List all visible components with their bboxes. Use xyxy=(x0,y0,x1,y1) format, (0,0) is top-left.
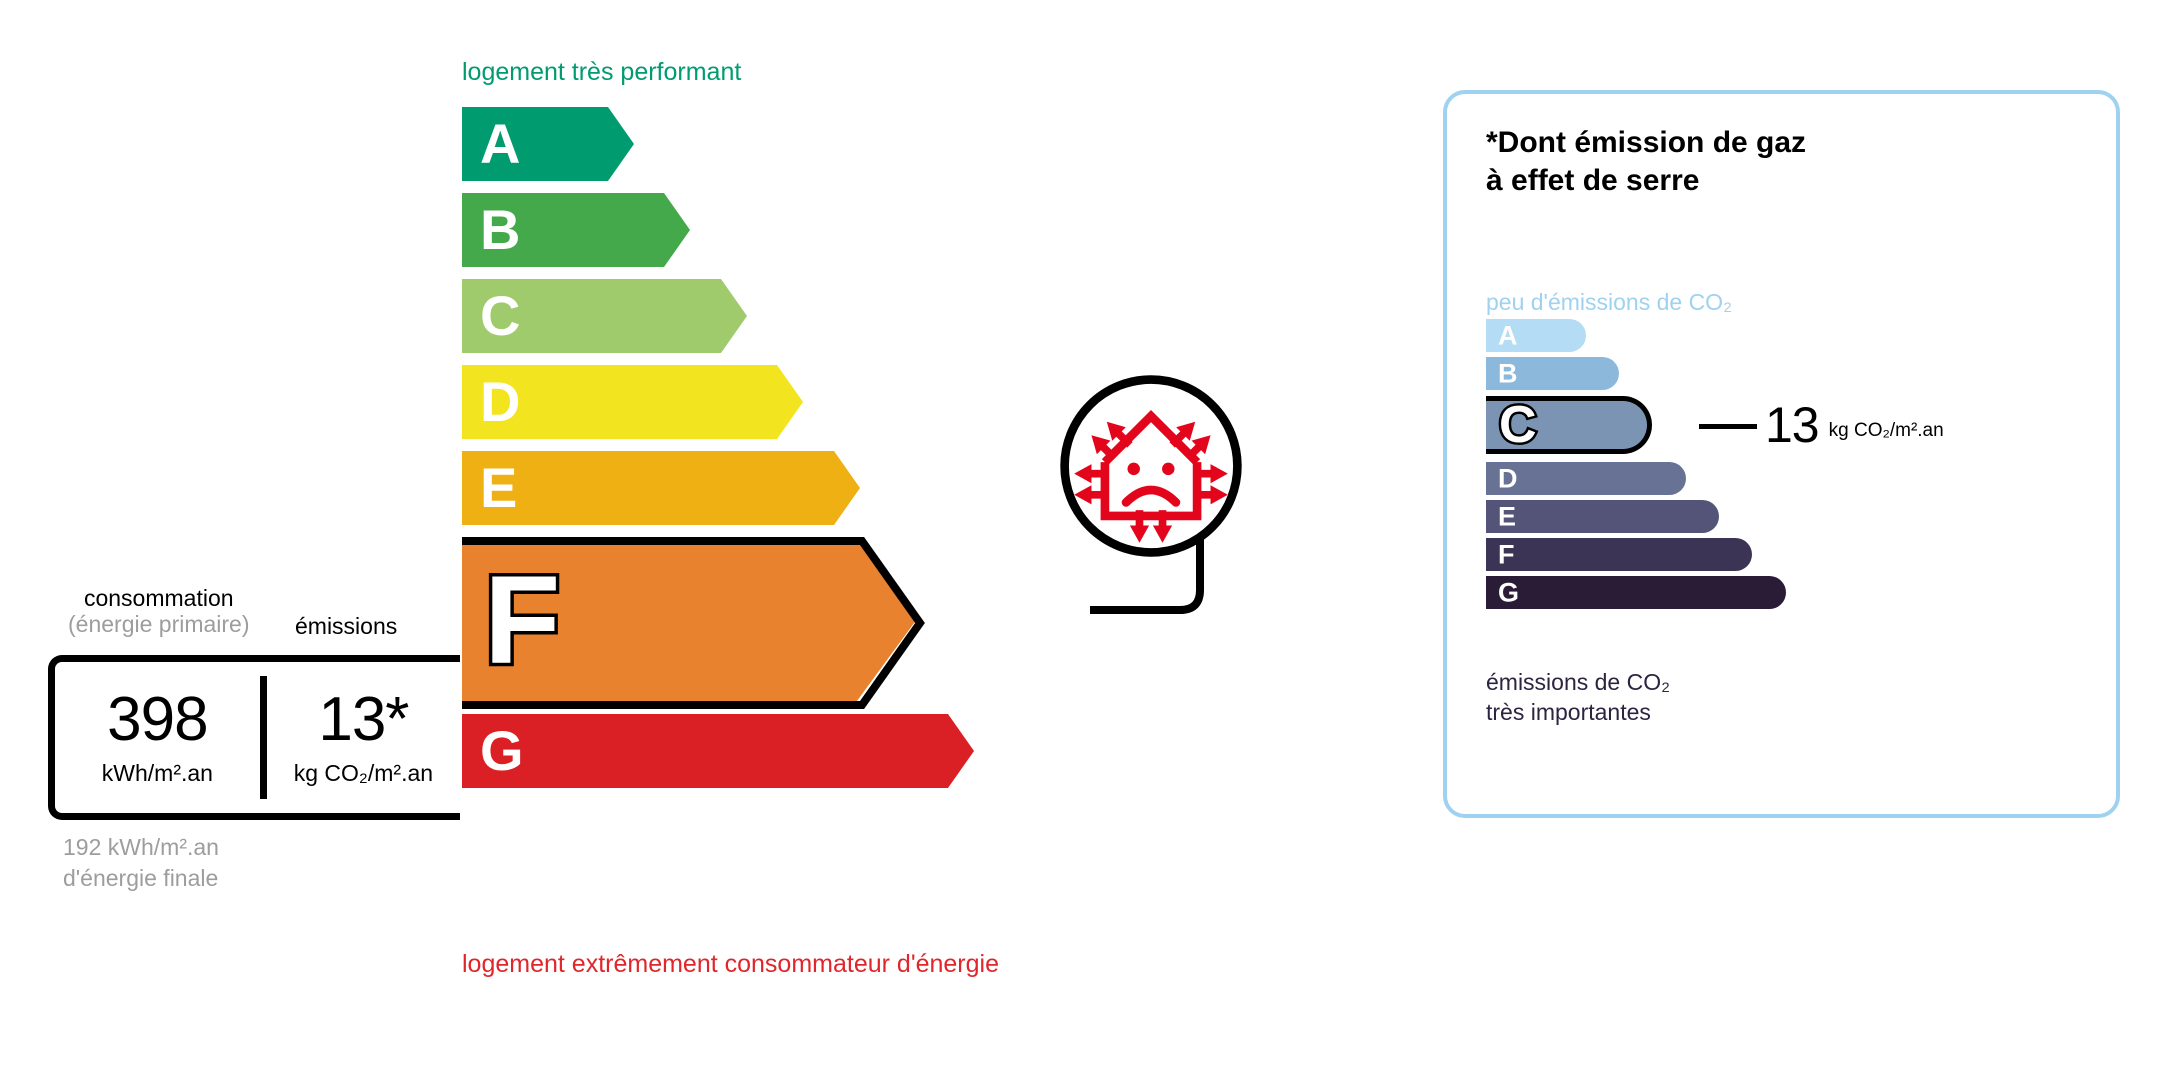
co2-readout: 13 kg CO₂/m².an xyxy=(1765,396,1944,454)
co2-bar-e xyxy=(1486,500,1719,533)
consumption-header-label: consommation xyxy=(84,585,234,611)
co2-leader-line xyxy=(1699,424,1757,429)
energy-class-row-g[interactable]: G xyxy=(462,714,1262,788)
energy-arrow-g xyxy=(462,714,974,788)
co2-class-row-a[interactable]: A xyxy=(1486,319,2086,352)
final-energy-label: d'énergie finale xyxy=(63,863,219,894)
co2-panel-title: *Dont émission de gaz à effet de serre xyxy=(1486,124,1806,200)
co2-class-letter-b: B xyxy=(1498,360,1518,387)
energy-class-letter-d: D xyxy=(480,374,520,430)
co2-class-row-e[interactable]: E xyxy=(1486,500,2086,533)
co2-class-row-f[interactable]: F xyxy=(1486,538,2086,571)
co2-top-caption: peu d'émissions de CO₂ xyxy=(1486,289,1732,316)
emissions-unit: kg CO₂/m².an xyxy=(294,760,433,787)
consumption-header: consommation (énergie primaire) xyxy=(68,586,250,638)
consumption-header-sublabel: (énergie primaire) xyxy=(68,612,250,638)
energy-class-letter-g: G xyxy=(480,723,524,779)
co2-bottom-caption-line1: émissions de CO₂ xyxy=(1486,667,1670,697)
co2-class-letter-d: D xyxy=(1498,465,1518,492)
final-energy-value: 192 kWh/m².an xyxy=(63,832,219,863)
energy-class-letter-b: B xyxy=(480,202,520,258)
energy-class-letter-c: C xyxy=(480,288,520,344)
final-energy-note: 192 kWh/m².an d'énergie finale xyxy=(63,832,219,894)
co2-class-list: A B C 13 kg CO₂/m².an D xyxy=(1486,319,2086,614)
co2-bottom-caption: émissions de CO₂ très importantes xyxy=(1486,667,1670,728)
energy-performance-panel: logement très performant A B xyxy=(0,0,1300,1079)
co2-title-line1: *Dont émission de gaz xyxy=(1486,124,1806,162)
co2-class-letter-e: E xyxy=(1498,503,1516,530)
consumption-value: 398 xyxy=(107,689,207,751)
value-readout-box: 398 kWh/m².an 13* kg CO₂/m².an xyxy=(48,655,460,820)
co2-bottom-caption-line2: très importantes xyxy=(1486,697,1670,727)
co2-class-letter-g: G xyxy=(1498,579,1519,606)
energy-bottom-caption: logement extrêmement consommateur d'éner… xyxy=(462,950,999,979)
co2-readout-unit: kg CO₂/m².an xyxy=(1829,420,1944,442)
co2-class-row-b[interactable]: B xyxy=(1486,357,2086,390)
co2-title-line2: à effet de serre xyxy=(1486,162,1806,200)
energy-class-row-a[interactable]: A xyxy=(462,107,1262,181)
energy-arrow-e xyxy=(462,451,860,525)
consumption-value-cell: 398 kWh/m².an xyxy=(55,662,260,813)
co2-class-letter-c: C xyxy=(1499,399,1537,451)
energy-top-caption: logement très performant xyxy=(462,58,741,87)
energy-class-letter-e: E xyxy=(480,460,517,516)
dpe-label: logement très performant A B xyxy=(0,0,2169,1079)
co2-readout-value: 13 xyxy=(1765,400,1819,450)
value-box-divider xyxy=(260,676,267,799)
energy-class-letter-a: A xyxy=(480,116,520,172)
consumption-unit: kWh/m².an xyxy=(102,760,213,787)
emissions-header-label: émissions xyxy=(295,614,397,640)
co2-bar-f xyxy=(1486,538,1752,571)
co2-emissions-panel: *Dont émission de gaz à effet de serre p… xyxy=(1443,90,2120,818)
co2-class-letter-f: F xyxy=(1498,541,1515,568)
energy-class-letter-f: F xyxy=(484,557,560,682)
energy-class-row-b[interactable]: B xyxy=(462,193,1262,267)
co2-class-row-c-selected[interactable]: C 13 kg CO₂/m².an xyxy=(1486,396,2086,454)
co2-class-row-d[interactable]: D xyxy=(1486,462,2086,495)
emissions-value: 13* xyxy=(318,689,408,751)
emissions-value-cell: 13* kg CO₂/m².an xyxy=(267,662,460,813)
energy-class-row-c[interactable]: C xyxy=(462,279,1262,353)
co2-bar-g xyxy=(1486,576,1786,609)
house-heat-loss-sad-icon xyxy=(1055,370,1247,562)
co2-class-letter-a: A xyxy=(1498,322,1518,349)
co2-class-row-g[interactable]: G xyxy=(1486,576,2086,609)
